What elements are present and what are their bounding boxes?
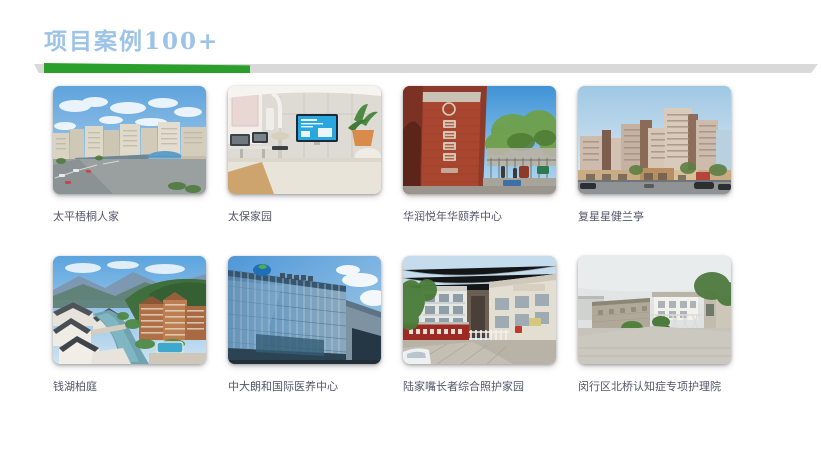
- gallery-card[interactable]: 陆家嘴长者综合照护家园: [403, 256, 556, 393]
- gallery-card-caption: 太平梧桐人家: [53, 210, 206, 223]
- gallery-card[interactable]: 闵行区北桥认知症专项护理院: [578, 256, 731, 393]
- gallery-card[interactable]: 太平梧桐人家: [53, 86, 206, 223]
- lakeside-village-photo[interactable]: [53, 256, 206, 364]
- care-home-street-photo[interactable]: [403, 256, 556, 364]
- gallery-card[interactable]: 钱湖柏庭: [53, 256, 206, 393]
- gallery-card-caption: 中大朗和国际医养中心: [228, 380, 381, 393]
- gallery-card-caption: 陆家嘴长者综合照护家园: [403, 380, 556, 393]
- gallery-card-caption: 闵行区北桥认知症专项护理院: [578, 380, 731, 393]
- blue-glass-tower-photo[interactable]: [228, 256, 381, 364]
- gallery-card-caption: 太保家园: [228, 210, 381, 223]
- apartment-towers-photo[interactable]: [578, 86, 731, 194]
- gallery-card[interactable]: 复星星健兰亭: [578, 86, 731, 223]
- red-brick-gate-photo[interactable]: [403, 86, 556, 194]
- gallery-card[interactable]: 华润悦年华颐养中心: [403, 86, 556, 223]
- gallery-card-caption: 华润悦年华颐养中心: [403, 210, 556, 223]
- slide-header: 项目案例100+: [0, 0, 821, 78]
- stone-wall-courtyard-photo[interactable]: [578, 256, 731, 364]
- gallery-card-caption: 复星星健兰亭: [578, 210, 731, 223]
- residential-complex-photo[interactable]: [53, 86, 206, 194]
- rehab-room-interior-photo[interactable]: [228, 86, 381, 194]
- project-case-gallery: 太平梧桐人家: [0, 86, 821, 426]
- gallery-card[interactable]: 太保家园: [228, 86, 381, 223]
- page-title: 项目案例100+: [44, 30, 219, 53]
- gallery-row-1: 太平梧桐人家: [0, 86, 821, 256]
- gallery-row-2: 钱湖柏庭: [0, 256, 821, 426]
- gallery-card-caption: 钱湖柏庭: [53, 380, 206, 393]
- gallery-card[interactable]: 中大朗和国际医养中心: [228, 256, 381, 393]
